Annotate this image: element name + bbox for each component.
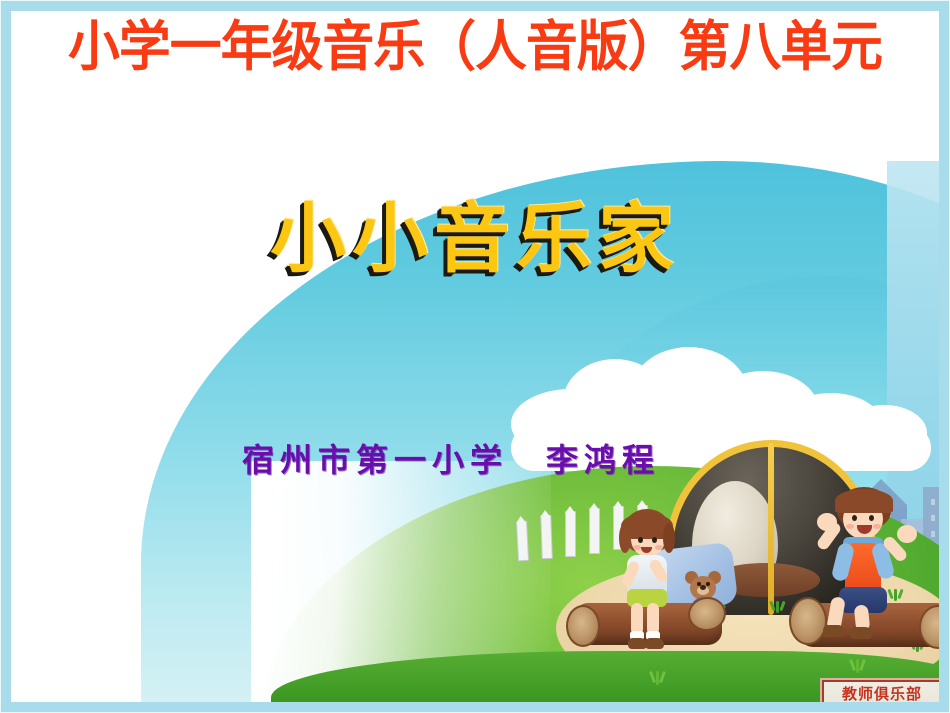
- watermark-brand: 教师俱乐部: [842, 687, 922, 702]
- boy-character: [819, 487, 939, 637]
- slide-inner-canvas: 小学一年级音乐（人音版）第八单元 小小音乐家 宿州市第一小学 李鸿程 教师俱乐部…: [11, 11, 939, 702]
- girl-character: [611, 509, 701, 649]
- unit-heading: 小学一年级音乐（人音版）第八单元: [30, 19, 921, 75]
- page-title: 小小音乐家: [11, 201, 939, 277]
- author-line: 宿州市第一小学 李鸿程: [11, 435, 891, 481]
- watermark-badge[interactable]: 教师俱乐部 www.910club.cn: [822, 680, 939, 702]
- slide-canvas: 小学一年级音乐（人音版）第八单元 小小音乐家 宿州市第一小学 李鸿程 教师俱乐部…: [0, 0, 950, 713]
